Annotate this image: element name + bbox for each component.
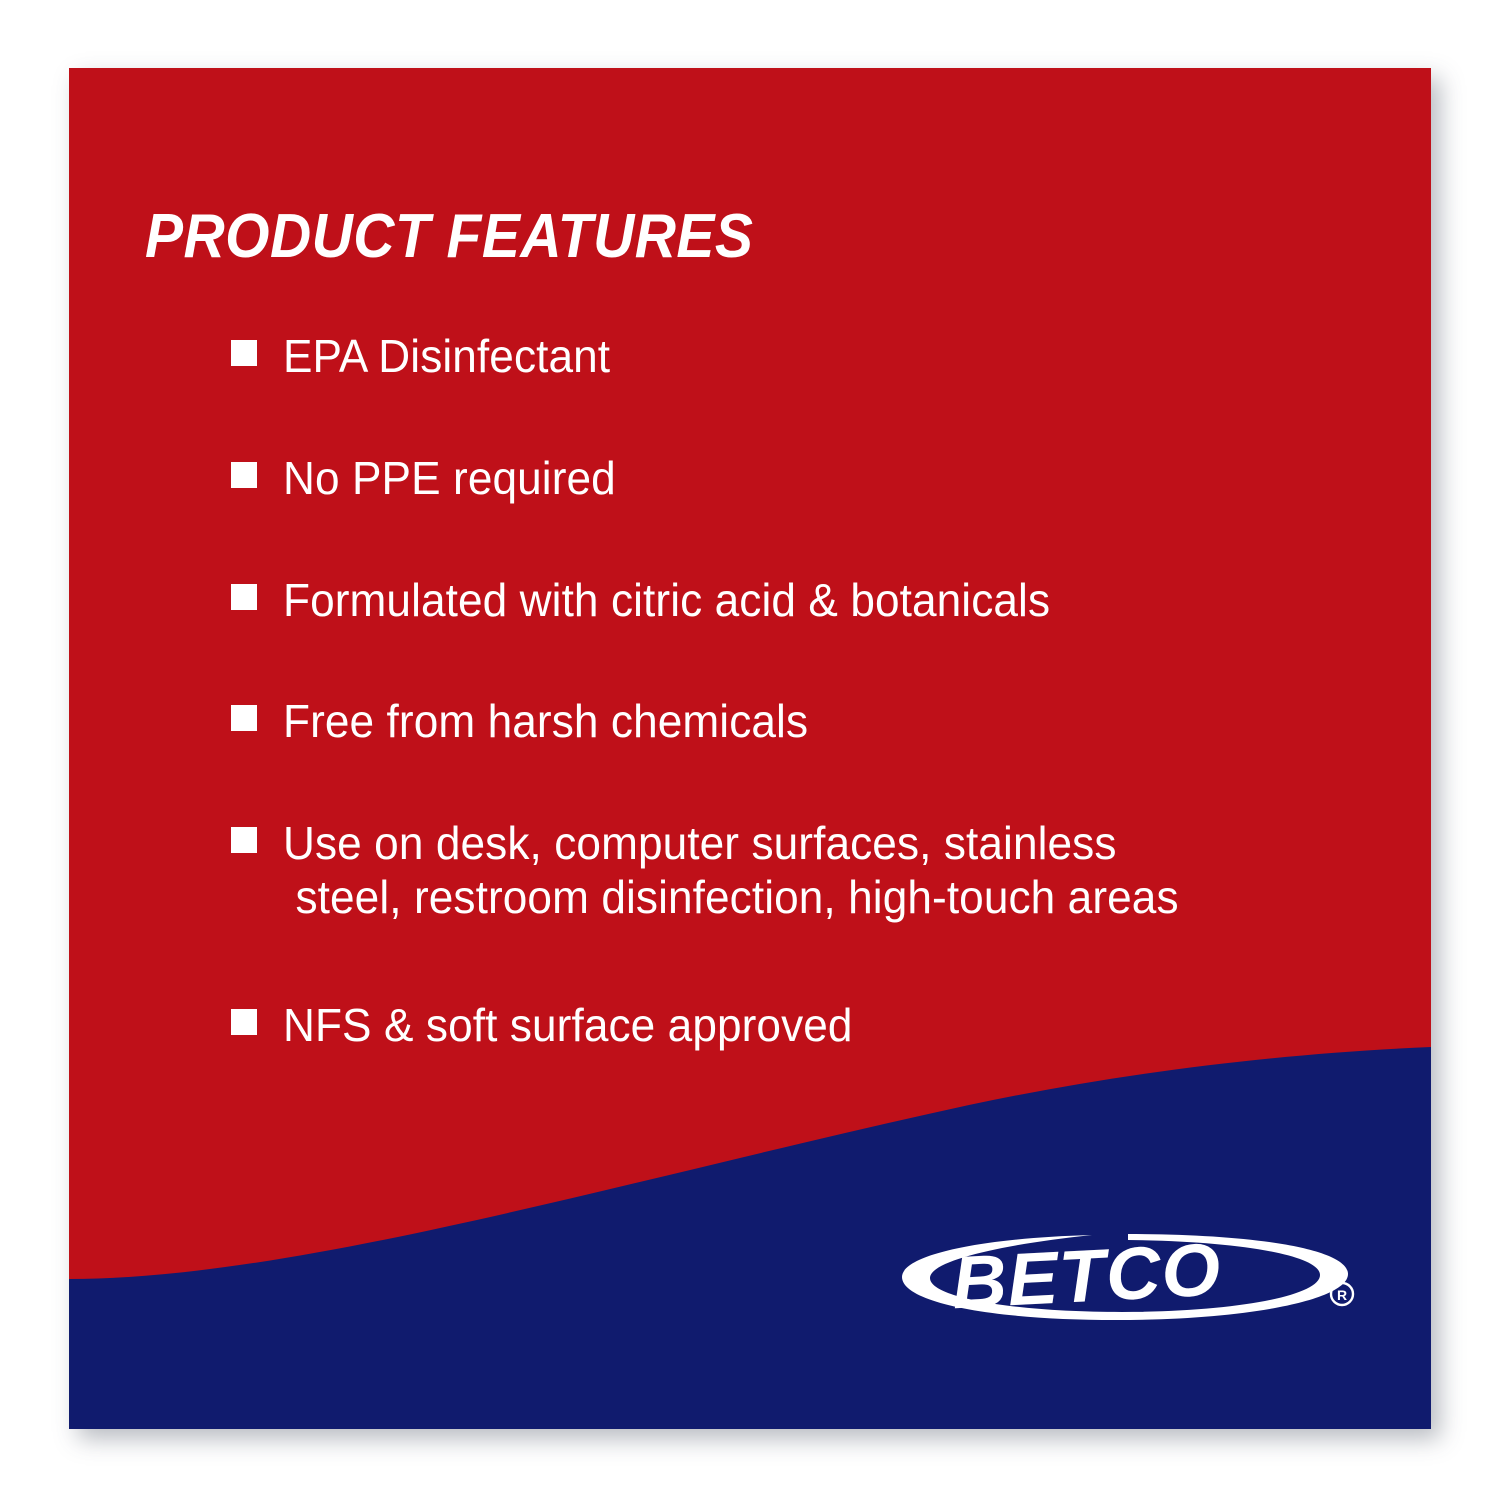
list-item: Use on desk, computer surfaces, stainles… <box>231 817 1391 925</box>
feature-label: Use on desk, computer surfaces, stainles… <box>283 817 1347 925</box>
feature-label: Free from harsh chemicals <box>283 695 1347 749</box>
page-title: PRODUCT FEATURES <box>145 206 753 268</box>
square-bullet-icon <box>231 1009 257 1035</box>
product-features-card: PRODUCT FEATURES EPA Disinfectant No PPE… <box>69 68 1431 1429</box>
list-item: No PPE required <box>231 452 1391 506</box>
features-list: EPA Disinfectant No PPE required Formula… <box>231 330 1391 1053</box>
feature-label-line-1: Use on desk, computer surfaces, stainles… <box>283 817 1117 869</box>
list-item: EPA Disinfectant <box>231 330 1391 384</box>
logo-wordmark: BETCO <box>950 1227 1223 1324</box>
square-bullet-icon <box>231 584 257 610</box>
slide-canvas: PRODUCT FEATURES EPA Disinfectant No PPE… <box>0 0 1500 1500</box>
feature-label: No PPE required <box>283 452 1347 506</box>
feature-label-line-2: steel, restroom disinfection, high-touch… <box>283 871 1347 925</box>
list-item: NFS & soft surface approved <box>231 999 1391 1053</box>
square-bullet-icon <box>231 340 257 366</box>
betco-logo-graphic: BETCO R <box>896 1222 1366 1332</box>
feature-label: EPA Disinfectant <box>283 330 1347 384</box>
feature-label: Formulated with citric acid & botanicals <box>283 574 1347 628</box>
betco-logo: BETCO R <box>896 1222 1366 1332</box>
square-bullet-icon <box>231 827 257 853</box>
list-item: Free from harsh chemicals <box>231 695 1391 749</box>
registered-trademark-letter: R <box>1337 1287 1347 1303</box>
registered-trademark-icon: R <box>1331 1283 1353 1305</box>
feature-label: NFS & soft surface approved <box>283 999 1347 1053</box>
square-bullet-icon <box>231 462 257 488</box>
square-bullet-icon <box>231 705 257 731</box>
logo-wordmark-text: BETCO <box>950 1227 1223 1324</box>
list-item: Formulated with citric acid & botanicals <box>231 574 1391 628</box>
